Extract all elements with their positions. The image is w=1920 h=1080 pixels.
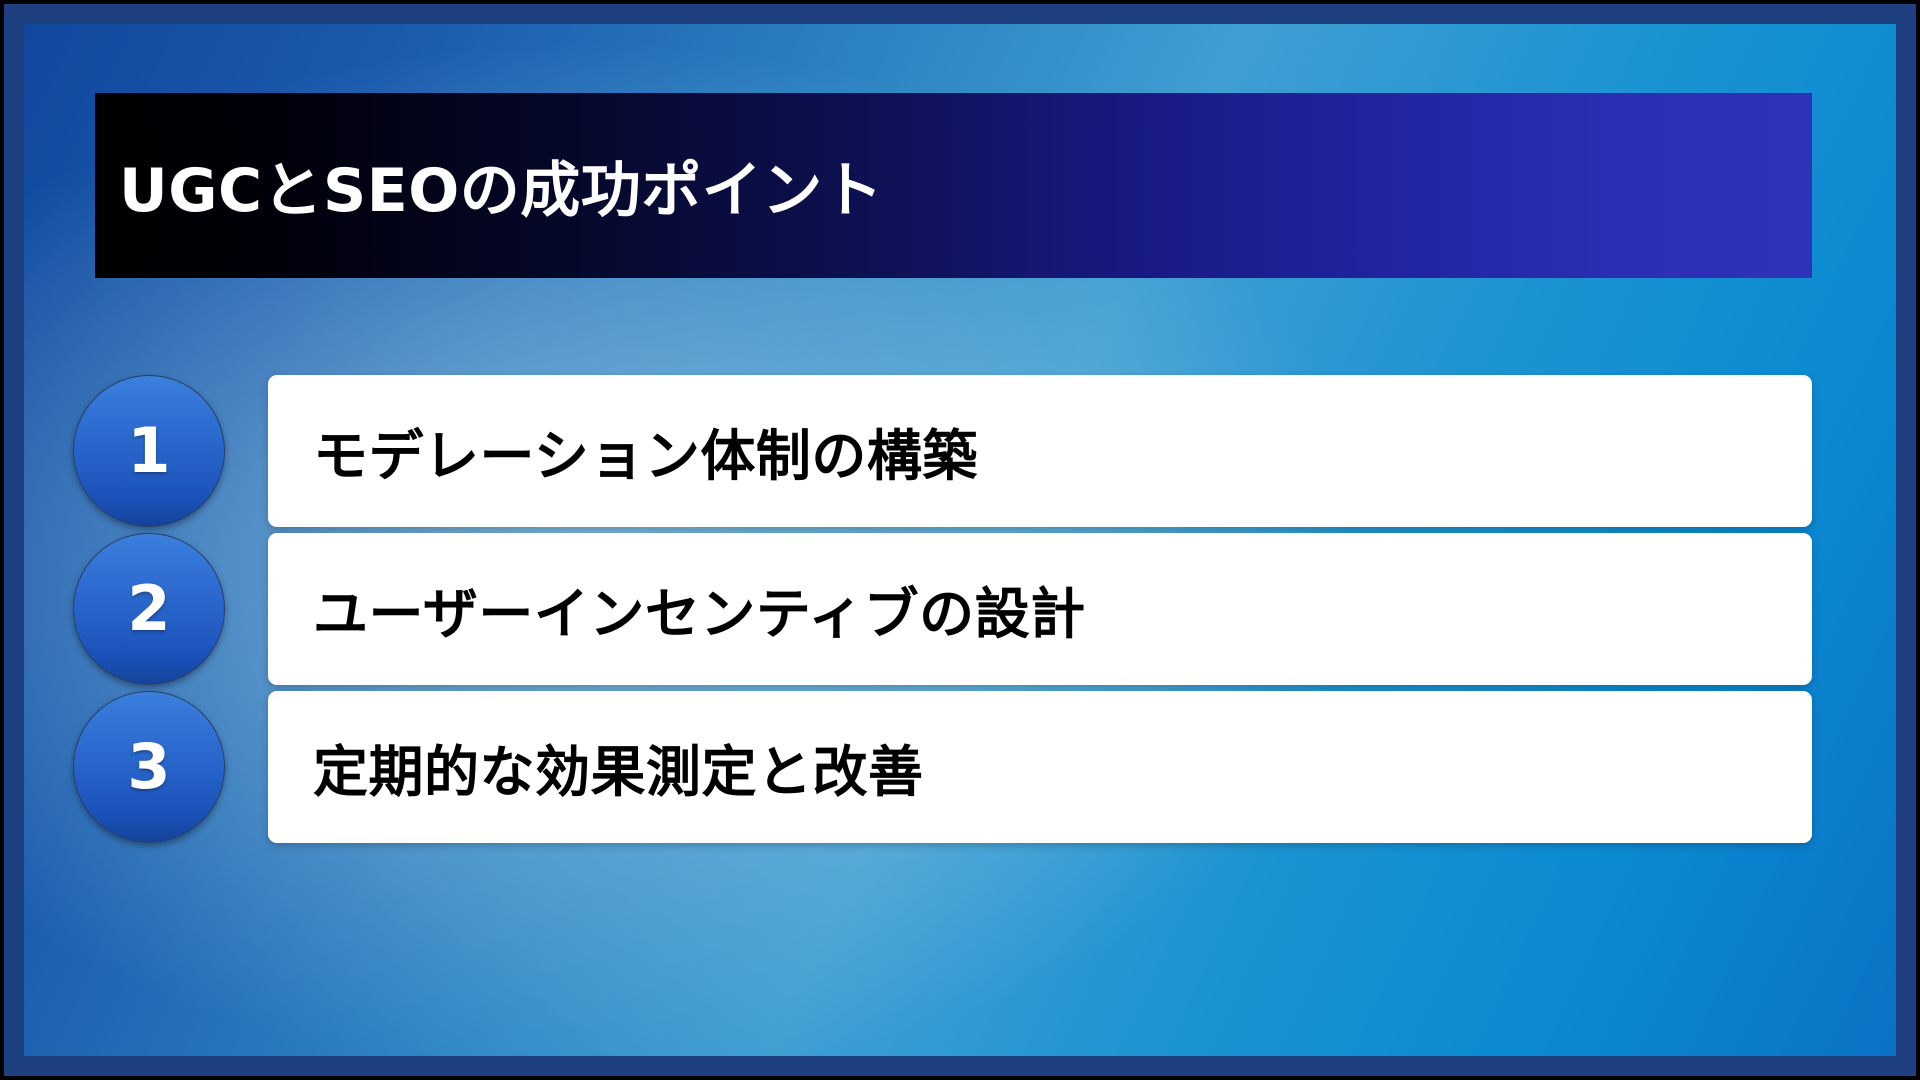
number-badge-1: 1 — [73, 375, 225, 527]
point-card-label: ユーザーインセンティブの設計 — [313, 569, 1086, 649]
point-card-label: モデレーション体制の構築 — [313, 411, 978, 491]
numbered-points-list: 1 モデレーション体制の構築 2 ユーザーインセンティブの設計 3 — [24, 24, 1896, 1056]
number-badge-2: 2 — [73, 533, 225, 685]
list-item: 2 ユーザーインセンティブの設計 — [24, 509, 1896, 661]
presentation-slide: UGCとSEOの成功ポイント 1 モデレーション体制の構築 2 ユーザーインセン… — [0, 0, 1920, 1080]
point-card-3: 定期的な効果測定と改善 — [268, 691, 1812, 843]
number-badge-label: 1 — [127, 420, 170, 482]
point-card-2: ユーザーインセンティブの設計 — [268, 533, 1812, 685]
point-card-1: モデレーション体制の構築 — [268, 375, 1812, 527]
number-badge-label: 2 — [127, 578, 170, 640]
number-badge-label: 3 — [127, 736, 170, 798]
slide-canvas: UGCとSEOの成功ポイント 1 モデレーション体制の構築 2 ユーザーインセン… — [24, 24, 1896, 1056]
number-badge-3: 3 — [73, 691, 225, 843]
list-item: 1 モデレーション体制の構築 — [24, 351, 1896, 503]
point-card-label: 定期的な効果測定と改善 — [313, 727, 924, 807]
list-item: 3 定期的な効果測定と改善 — [24, 667, 1896, 819]
